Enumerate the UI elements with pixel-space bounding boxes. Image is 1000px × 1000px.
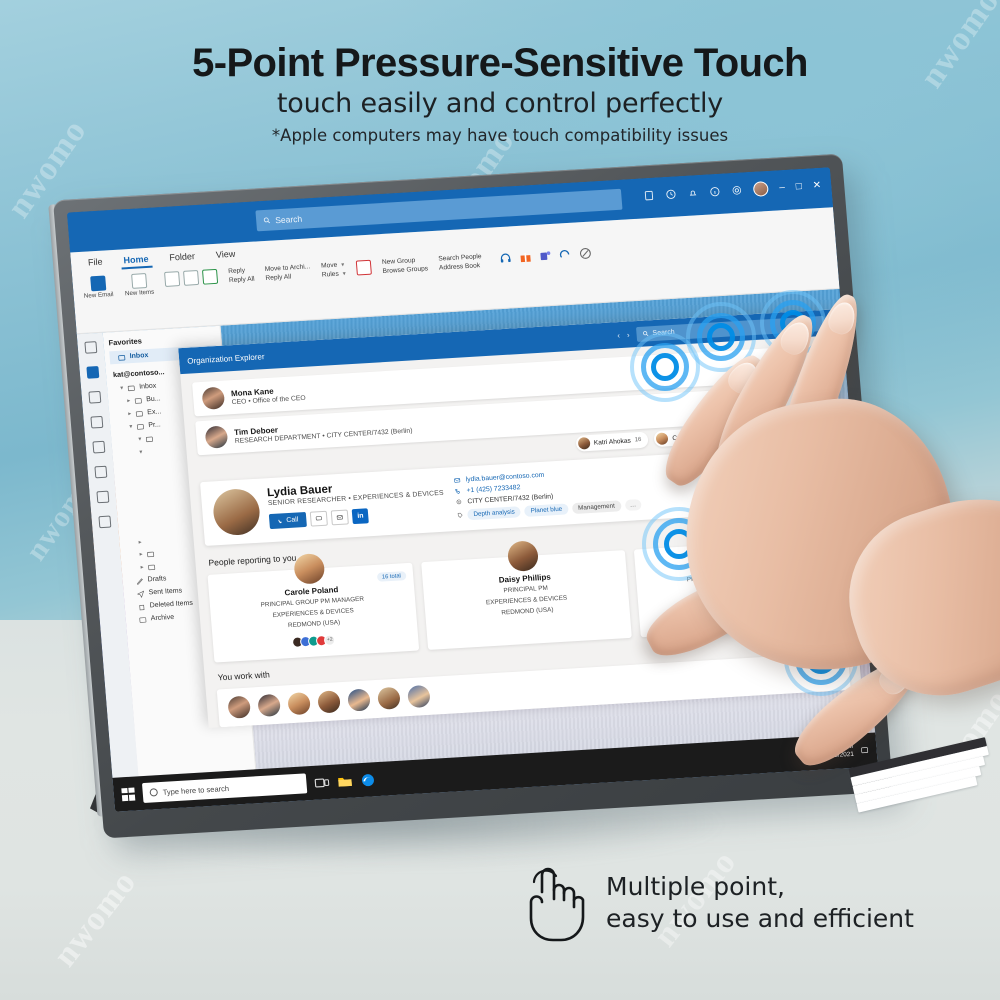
call-label: Call [286,516,299,524]
outlook-search-placeholder: Search [275,213,303,225]
new-items-button[interactable]: New Items [123,273,155,298]
toggle-label: Show only d... [786,493,825,502]
profile-contact-details: lydia.bauer@contoso.com +1 (425) 7233482… [453,454,824,522]
folder-icon [127,383,136,391]
action-center-icon[interactable] [860,746,869,754]
flag-icon[interactable] [356,260,372,276]
search-people-input[interactable]: Search People [438,253,482,263]
device-screen: Search – □ ✕ [67,167,878,811]
meet-now-icon[interactable] [558,248,572,262]
profile-email: lydia.bauer@contoso.com [465,472,544,484]
new-email-label: New Email [84,291,114,300]
peer-name: Cameron Evans [672,432,720,442]
address-book-button[interactable]: Address Book [439,262,481,271]
folder-icon [136,422,145,430]
avatar[interactable] [227,695,251,718]
archive-icon[interactable] [202,269,218,285]
drafts-icon [135,576,144,584]
call-button[interactable]: Call [269,512,307,529]
profile-tag[interactable]: Depth analysis [467,506,521,520]
email-button[interactable] [331,509,349,525]
folder-icon [145,434,154,442]
report-member-avatars: +2 [221,630,410,652]
notes-icon[interactable] [643,190,655,202]
folder-label: Drafts [147,575,166,583]
presence-indicator [426,702,430,707]
device-body: Search – □ ✕ [53,154,893,839]
new-email-button[interactable]: New Email [82,275,114,300]
tag-icon [456,512,464,519]
presence-indicator [307,709,311,714]
files-nav-icon[interactable] [96,491,109,504]
location-icon [455,499,463,506]
titlebar-icon-group: – □ ✕ [643,178,822,204]
inbox-icon [117,353,126,361]
phone-icon [277,518,283,524]
new-email-icon [90,276,106,292]
profile-action-row: Call i [269,504,446,529]
report-card-carole[interactable]: 16 total Carole Poland PRINCIPAL GROUP P… [207,563,418,662]
taskbar-search-input[interactable]: Type here to search [142,773,307,803]
presence-indicator [337,708,341,713]
report-card-daisy[interactable]: Daisy Phillips PRINCIPAL PM EXPERIENCES … [421,550,632,649]
sidebar-item-label: Inbox [129,352,148,360]
chevron-down-icon: ▾ [342,270,346,277]
avatar [577,437,590,450]
multi-touch-hand-icon [520,862,586,944]
chevron-right-icon: ▸ [138,538,142,545]
mail-nav-icon[interactable] [86,366,99,379]
sent-icon [136,589,145,597]
attachment-icon[interactable] [578,247,592,261]
folder-label: Sent Items [148,587,182,596]
delete-group [164,269,218,287]
profile-identity: Lydia Bauer SENIOR RESEARCHER • EXPERIEN… [212,477,446,537]
folder-label: Deleted Items [149,600,193,610]
reply-all-button[interactable]: Reply All [229,276,255,284]
groups-group: New Group Browse Groups [382,256,429,275]
avatar[interactable] [287,692,311,715]
chevron-down-icon: ▾ [341,261,345,268]
ignore-icon[interactable] [164,271,180,287]
folder-icon [134,396,143,404]
teams-icon[interactable] [538,249,552,263]
caption-text: Multiple point, easy to use and efficien… [606,871,914,935]
chevron-right-icon: ▸ [140,564,144,571]
folder-icon [135,409,144,417]
folder-label: Bu... [146,395,161,403]
reply-all-quickstep-button[interactable]: Reply All [265,273,291,281]
chevron-right-icon: ▸ [128,410,132,417]
network-icon[interactable] [799,750,808,758]
phone-icon [454,488,462,495]
delete-icon[interactable] [183,270,199,286]
mail-icon [453,477,461,484]
folder-label: Pr... [148,421,161,429]
settings-icon[interactable] [731,185,743,197]
archive-icon [139,615,148,623]
more-tags-button[interactable]: … [624,499,641,511]
report-card-cecil[interactable]: Cecil Folk PRINCIPAL RESEARCH MANAGER RE… [634,537,845,636]
peer-count: 16 [635,437,642,443]
move-button[interactable]: Move [321,262,338,270]
taskbar-system-tray: 9:30 AM 3/8/2021 [798,742,869,762]
avatar [745,427,758,440]
page-title: 5-Point Pressure-Sensitive Touch [0,42,1000,84]
tasks-nav-icon[interactable] [92,441,105,454]
chat-icon [315,515,323,522]
task-view-icon[interactable] [314,774,330,790]
minimize-button[interactable]: – [779,183,785,193]
peer-count: 17 [723,432,730,438]
respond-group: Reply Reply All [228,267,255,284]
new-group-button[interactable]: New Group [382,257,416,266]
folder-label: Inbox [139,383,157,391]
tags-group [356,260,372,276]
tab-folder[interactable]: Folder [166,249,199,267]
bottom-caption: Multiple point, easy to use and efficien… [520,862,914,944]
avatar[interactable] [407,684,431,707]
presence-indicator [535,566,539,571]
chevron-right-icon: ▸ [127,397,131,404]
bell-icon[interactable] [687,187,699,199]
avatar [201,387,225,410]
chevron-right-icon: ▸ [139,551,143,558]
headline-block: 5-Point Pressure-Sensitive Touch touch e… [0,42,1000,145]
profile-phone: +1 (425) 7233482 [466,484,520,494]
clock-icon[interactable] [665,188,677,200]
presence-indicator [254,527,262,535]
caption-line-1: Multiple point, [606,871,914,903]
rules-button[interactable]: Rules [322,271,339,279]
addin-icon-group [498,247,592,265]
trash-icon [137,602,146,610]
folder-icon [147,562,156,570]
avatar[interactable] [347,688,371,711]
profile-location: CITY CENTER/7432 (Berlin) [467,493,553,505]
presence-indicator [396,704,400,709]
file-explorer-icon[interactable] [337,773,353,789]
tab-file[interactable]: File [84,254,106,271]
presence-indicator [247,713,251,718]
org-explorer-body: Mona Kane CEO • Office of the CEO Tim De… [180,335,861,728]
find-group: Search People Address Book [438,253,482,272]
chevron-down-icon: ▾ [139,448,143,455]
headset-icon[interactable] [498,251,512,265]
peer-chip-cameron[interactable]: Cameron Evans 17 [654,426,738,447]
new-items-label: New Items [125,289,155,298]
apps-nav-icon[interactable] [98,516,111,529]
presence-indicator [748,553,752,558]
page-subtitle: touch easily and control perfectly [0,88,1000,119]
clock-date: 3/8/2021 [829,751,854,760]
mail-icon [336,514,344,521]
profile-tag[interactable]: Management [572,500,622,514]
toggle-switch[interactable] [765,495,783,505]
avatar[interactable] [377,686,401,709]
forward-icon[interactable]: › [627,330,630,339]
tab-home[interactable]: Home [120,252,152,270]
presence-indicator [277,711,281,716]
move-to-archive-button[interactable]: Move to Archi... [265,263,311,273]
mini-avatar [751,609,763,621]
presence-indicator [221,405,225,410]
chat-button[interactable] [310,511,328,527]
chevron-down-icon: ▾ [129,423,133,430]
chevron-down-icon: ▾ [120,385,124,392]
reply-button[interactable]: Reply [228,267,245,275]
people-nav-icon[interactable] [90,416,103,429]
info-icon[interactable] [709,186,721,198]
search-icon [263,217,271,224]
profile-avatar [212,488,262,537]
avatar [656,432,669,445]
org-explorer-title: Organization Explorer [187,352,265,366]
move-group: Move▾ Rules▾ [321,261,346,278]
presence-indicator [367,706,371,711]
hamburger-menu-icon[interactable] [84,341,97,354]
linkedin-button[interactable]: in [352,508,369,524]
tab-view[interactable]: View [212,247,239,264]
more-members-count[interactable]: +2 [324,634,336,646]
close-button[interactable]: ✕ [812,180,821,190]
linkedin-label: in [357,513,364,520]
search-icon [642,330,648,336]
windows-start-icon[interactable] [121,787,135,801]
taskbar-search-placeholder: Type here to search [162,783,229,796]
presence-indicator [322,579,326,584]
cortana-circle-icon [149,788,158,796]
direct-reports-label: 3 direct reports [777,431,819,440]
profile-tag[interactable]: Planet blue [524,503,568,517]
caption-line-2: easy to use and efficient [606,903,914,935]
folder-icon [146,549,155,557]
report-member-avatars [647,604,836,626]
calendar-nav-icon[interactable] [88,391,101,404]
notes-nav-icon[interactable] [94,466,107,479]
peer-chip-katri[interactable]: Katri Ahokas 16 [575,432,649,452]
gift-icon[interactable] [518,250,532,264]
user-avatar[interactable] [753,181,769,197]
edge-browser-icon[interactable] [360,772,376,788]
organization-explorer-panel: Organization Explorer ‹ › Search [178,309,862,728]
volume-icon[interactable] [814,749,823,757]
outlook-window: Search – □ ✕ [67,167,875,777]
org-search-placeholder: Search [652,328,675,336]
back-icon[interactable]: ‹ [617,331,620,340]
plus-icon [131,273,147,289]
report-count-badge: 16 total [377,571,407,582]
browse-groups-button[interactable]: Browse Groups [382,265,428,275]
maximize-button[interactable]: □ [795,182,802,192]
avatar[interactable] [257,693,281,716]
chevron-down-icon: ▾ [138,436,142,443]
taskbar-clock[interactable]: 9:30 AM 3/8/2021 [828,743,854,760]
folder-label: Archive [151,614,175,622]
avatar[interactable] [317,690,341,713]
peer-name: Katri Ahokas [594,437,632,446]
quicksteps-group: Move to Archi... Reply All [265,263,312,282]
tablet-device: Search – □ ✕ [53,154,893,839]
presence-indicator [224,443,228,448]
compatibility-note: *Apple computers may have touch compatib… [0,126,1000,145]
folder-label: Ex... [147,408,162,416]
avatar [205,426,229,449]
